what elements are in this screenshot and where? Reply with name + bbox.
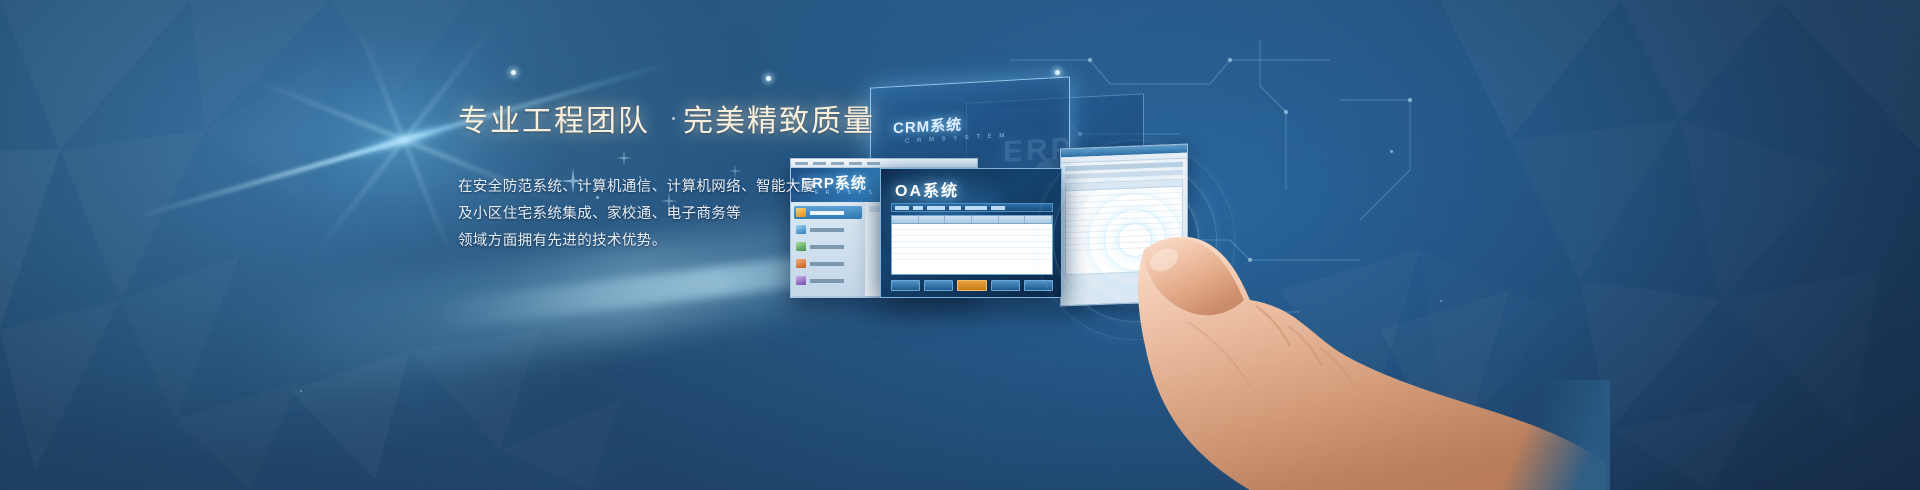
hero-banner: 专业工程团队 完美精致质量 在安全防范系统、计算机通信、计算机网络、智能大厦 及… <box>0 0 1920 490</box>
oa-grid-col <box>945 216 972 223</box>
oa-action-buttons <box>891 279 1053 292</box>
description-line-2: 及小区住宅系统集成、家校通、电子商务等 <box>458 201 818 228</box>
erp-menu-item[interactable] <box>831 162 844 165</box>
erp-sidebar-label <box>810 279 844 283</box>
oa-grid-col <box>999 216 1026 223</box>
oa-data-grid[interactable] <box>891 215 1053 275</box>
description-line-3: 领域方面拥有先进的技术优势。 <box>458 228 818 255</box>
oa-action-button[interactable] <box>991 280 1020 291</box>
oa-toolbar <box>891 203 1053 212</box>
window-crm-title: CRM系统 <box>893 113 962 138</box>
erp-sidebar-item[interactable] <box>794 274 862 287</box>
window-oa-title: OA系统 <box>895 177 959 201</box>
oa-grid-row <box>892 254 1052 260</box>
particle-dot <box>511 70 516 75</box>
headline-part-1: 专业工程团队 <box>458 105 650 138</box>
hero-description: 在安全防范系统、计算机通信、计算机网络、智能大厦 及小区住宅系统集成、家校通、电… <box>458 174 818 255</box>
box-icon <box>796 259 806 268</box>
erp-sidebar-label <box>810 262 844 266</box>
oa-grid-col <box>972 216 999 223</box>
erp-sidebar-item[interactable] <box>794 257 862 270</box>
page-title: 专业工程团队 完美精致质量 <box>458 100 818 144</box>
description-line-1: 在安全防范系统、计算机通信、计算机网络、智能大厦 <box>458 174 818 201</box>
particle-dot <box>300 390 302 392</box>
oa-grid-col <box>919 216 946 223</box>
oa-action-button[interactable] <box>891 280 920 291</box>
oa-action-button-primary[interactable] <box>957 280 986 291</box>
hero-text-block: 专业工程团队 完美精致质量 在安全防范系统、计算机通信、计算机网络、智能大厦 及… <box>458 100 818 255</box>
gear-icon <box>796 276 806 285</box>
oa-grid-col <box>892 216 919 223</box>
erp-menu-item[interactable] <box>849 162 862 165</box>
oa-toolbar-button[interactable] <box>913 206 923 210</box>
oa-grid-header <box>892 216 1052 224</box>
pointing-hand-illustration <box>1130 230 1610 490</box>
headline-part-2: 完美精致质量 <box>683 105 875 138</box>
oa-toolbar-button[interactable] <box>965 206 987 210</box>
particle-dot <box>1390 150 1393 153</box>
oa-toolbar-button[interactable] <box>949 206 961 210</box>
erp-menu-item[interactable] <box>867 162 880 165</box>
erp-menubar <box>791 159 977 168</box>
oa-action-button[interactable] <box>924 280 953 291</box>
oa-toolbar-button[interactable] <box>927 206 945 210</box>
oa-toolbar-button[interactable] <box>895 206 909 210</box>
oa-toolbar-button[interactable] <box>991 206 1005 210</box>
